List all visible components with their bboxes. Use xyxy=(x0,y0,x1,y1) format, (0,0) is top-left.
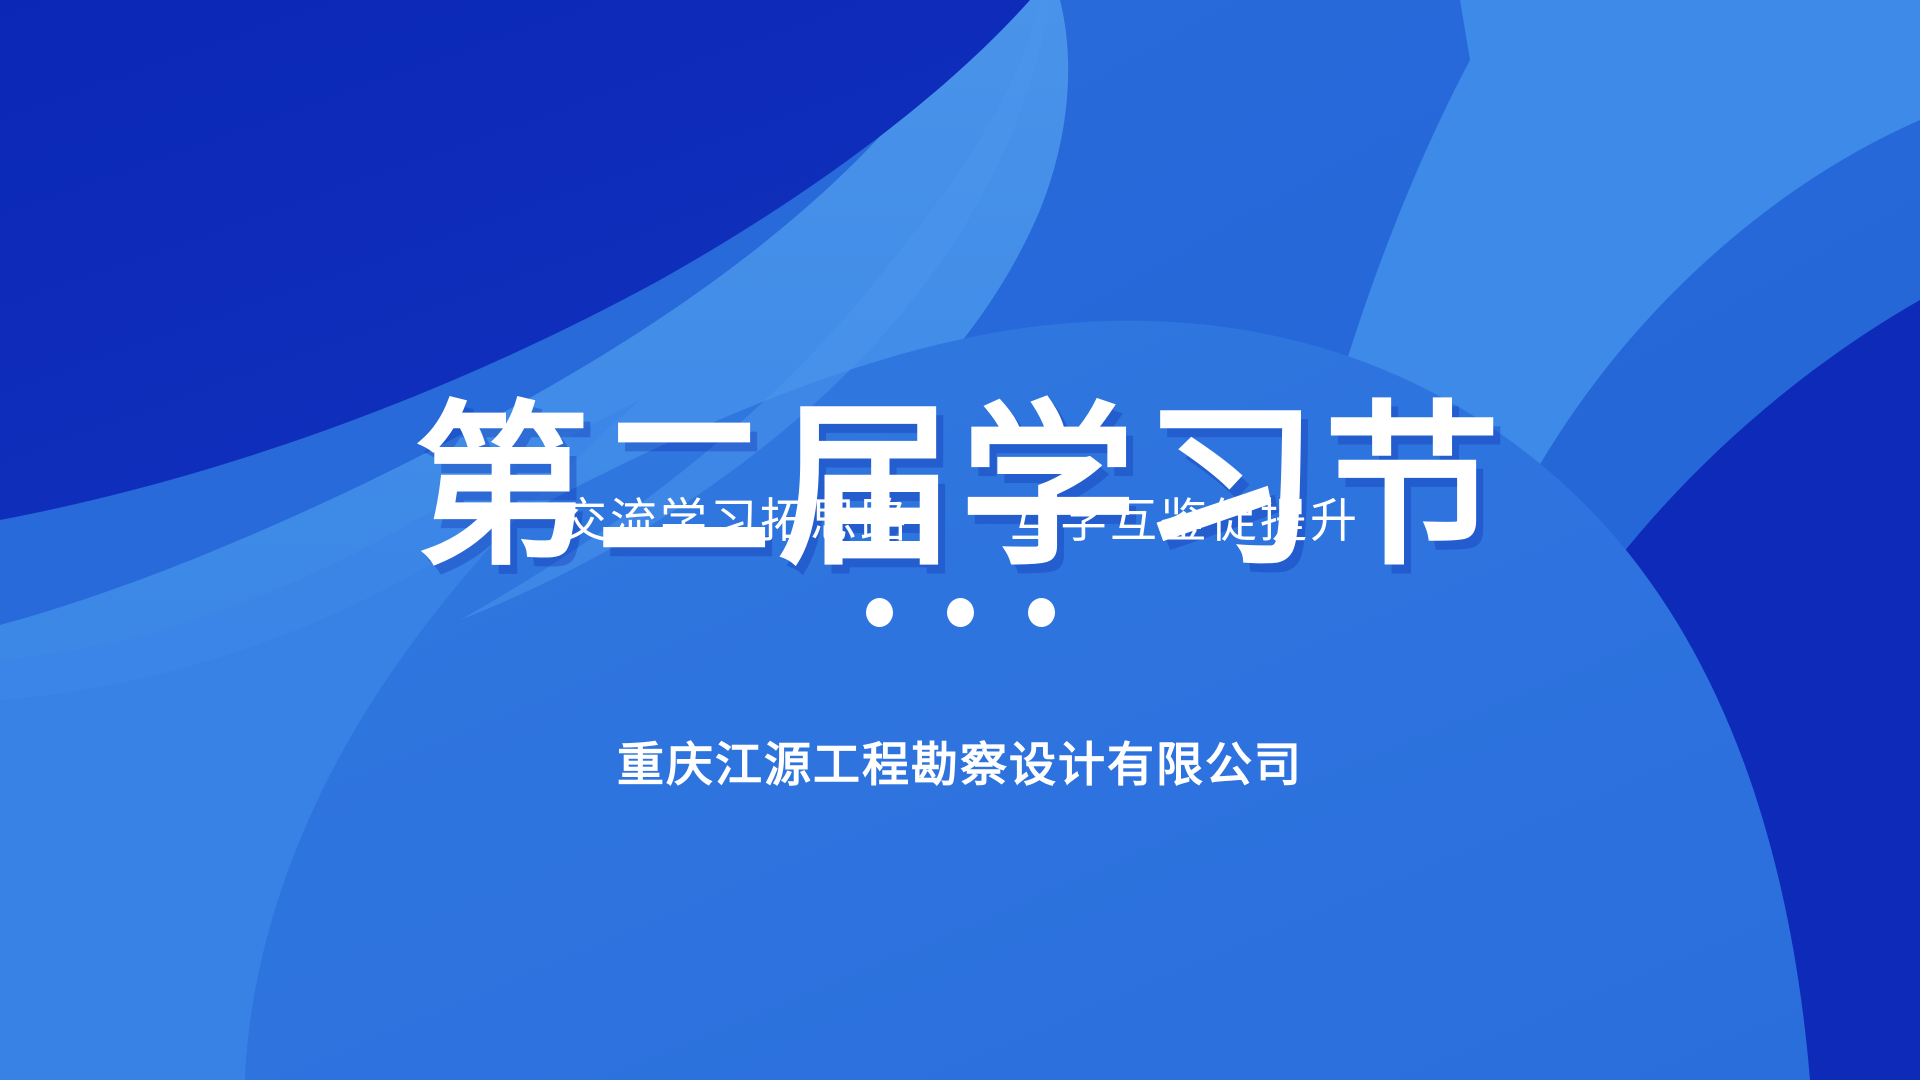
poster-canvas: 第二届学习节 交流学习拓思路 互学互鉴促提升 重庆江源工程勘察设计有限公司 xyxy=(0,0,1920,1080)
dot-icon xyxy=(866,598,893,627)
company-name: 重庆江源工程勘察设计有限公司 xyxy=(0,738,1920,794)
dot-icon xyxy=(947,598,974,627)
dot-icon xyxy=(1028,598,1055,627)
dot-separator xyxy=(0,598,1920,627)
page-subtitle: 交流学习拓思路 互学互鉴促提升 xyxy=(0,493,1920,552)
poster-content: 第二届学习节 交流学习拓思路 互学互鉴促提升 重庆江源工程勘察设计有限公司 xyxy=(0,0,1920,1080)
